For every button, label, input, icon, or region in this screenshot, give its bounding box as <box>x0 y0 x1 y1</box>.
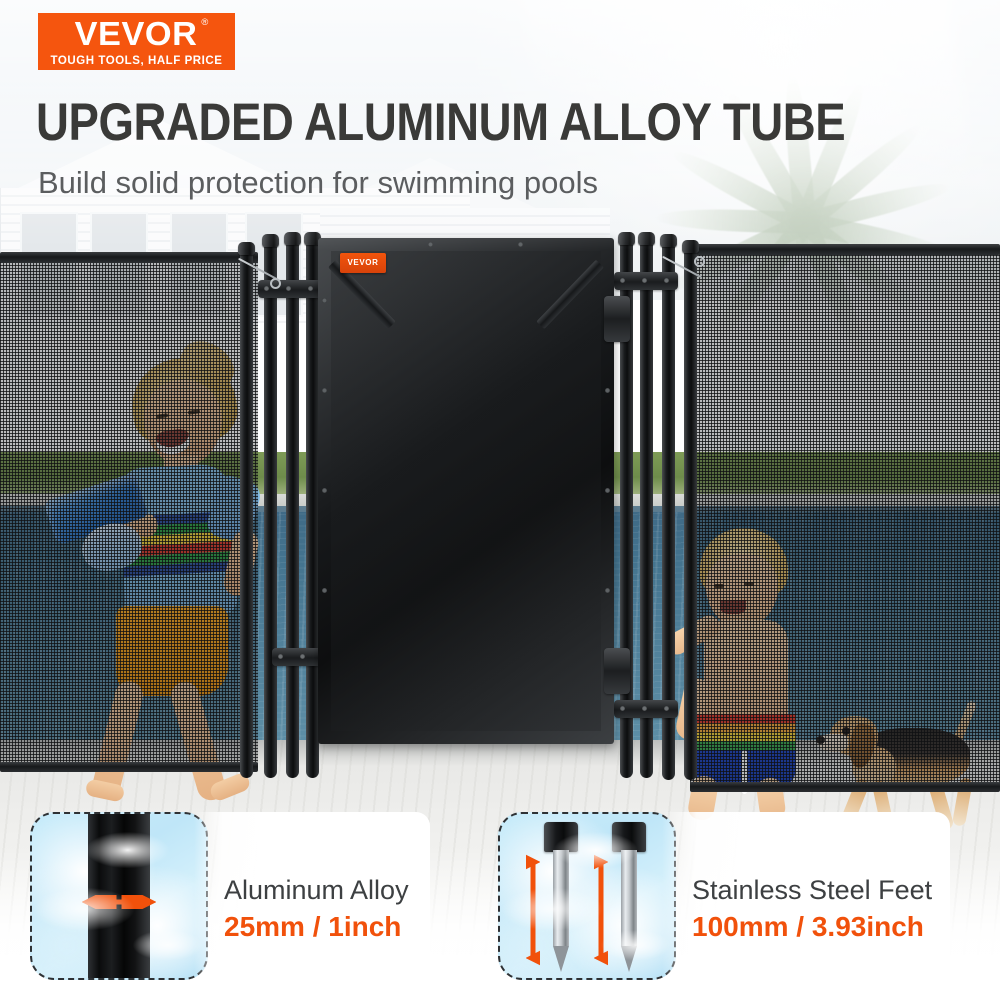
gate-hinge-top <box>604 296 630 342</box>
callout-text-block: Stainless Steel Feet 100mm / 3.93inch <box>662 812 950 980</box>
callout-text-block: Aluminum Alloy 25mm / 1inch <box>194 812 430 980</box>
fence-top-rail-left <box>0 252 258 263</box>
height-arrow-icon-right <box>594 854 608 966</box>
registered-trademark-icon: ® <box>202 18 209 27</box>
aluminum-tube-graphic <box>88 812 150 980</box>
logo-tagline: TOUGH TOOLS, HALF PRICE <box>51 55 223 67</box>
callout-image-feet <box>498 812 676 980</box>
post-bracket <box>614 700 678 718</box>
vevor-logo: VEVOR ® TOUGH TOOLS, HALF PRICE <box>38 13 235 70</box>
callout-value: 25mm / 1inch <box>224 910 412 943</box>
fence-mesh-panel-left <box>0 258 258 770</box>
gate-latch-ring[interactable] <box>270 278 281 289</box>
callout-stainless-steel-feet: Stainless Steel Feet 100mm / 3.93inch <box>498 812 950 980</box>
post-bracket <box>614 272 678 290</box>
foot-cap-icon <box>612 822 646 852</box>
gate-frame <box>318 238 614 744</box>
gate-vevor-badge: VEVOR <box>340 253 386 273</box>
callout-aluminum-alloy: Aluminum Alloy 25mm / 1inch <box>30 812 430 980</box>
gate-badge-label: VEVOR <box>347 259 378 267</box>
callout-image-tube <box>30 812 208 980</box>
foot-cap-icon <box>544 822 578 852</box>
fence-gate[interactable]: VEVOR <box>318 238 614 744</box>
page-subtitle: Build solid protection for swimming pool… <box>38 166 598 200</box>
product-marketing-image: VEVOR VEVOR ® TOUGH TOOLS, HALF PRICE UP… <box>0 0 1000 1000</box>
gate-latch-ring[interactable] <box>694 256 705 267</box>
callout-title: Aluminum Alloy <box>224 875 412 907</box>
diameter-arrow-icon <box>82 895 156 909</box>
fence-mesh-panel-right <box>690 250 1000 790</box>
page-title: UPGRADED ALUMINUM ALLOY TUBE <box>36 96 845 149</box>
fence-bottom-rail-right <box>690 782 1000 792</box>
gate-hinge-bottom <box>604 648 630 694</box>
callout-value: 100mm / 3.93inch <box>692 910 932 943</box>
height-arrow-icon-left <box>526 854 540 966</box>
callout-title: Stainless Steel Feet <box>692 875 932 907</box>
post-bracket <box>258 280 322 298</box>
fence-bottom-rail-left <box>0 762 258 772</box>
logo-wordmark: VEVOR <box>75 15 198 52</box>
stainless-feet-graphic <box>500 814 674 978</box>
